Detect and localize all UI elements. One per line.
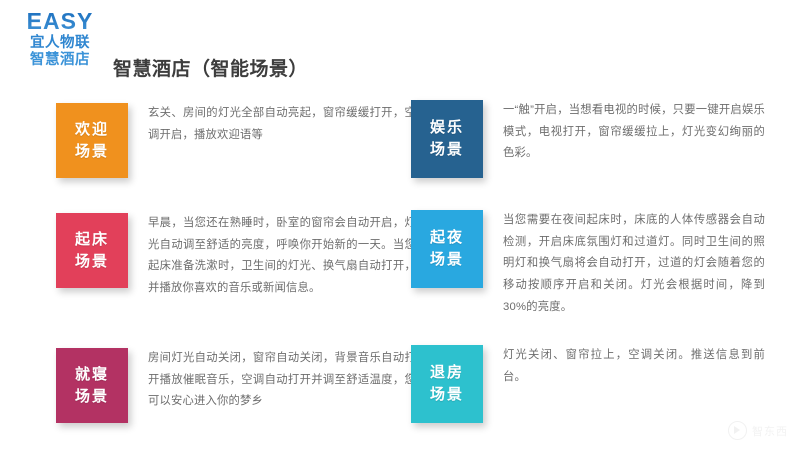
logo-subtitle-line2: 智慧酒店 bbox=[16, 53, 104, 68]
scene-badge-welcome[interactable]: 欢迎 场景 bbox=[56, 103, 128, 178]
scene-badge-line1: 退房 bbox=[430, 362, 464, 384]
scene-badge-line1: 欢迎 bbox=[75, 119, 109, 141]
logo-subtitle-line1: 宜人物联 bbox=[16, 36, 104, 51]
scene-badge-line1: 起夜 bbox=[430, 227, 464, 249]
watermark-label: 智东西 bbox=[752, 423, 788, 439]
scene-column-right: 娱乐 场景 一“触”开启，当想看电视的时候，只要一键开启娱乐模式，电视打开，窗帘… bbox=[411, 92, 796, 450]
scene-badge-line2: 场景 bbox=[75, 251, 109, 273]
page-title: 智慧酒店（智能场景） bbox=[113, 54, 308, 81]
scene-badge-line2: 场景 bbox=[75, 141, 109, 163]
scene-badge-entertainment[interactable]: 娱乐 场景 bbox=[411, 100, 483, 178]
watermark: 智东西 bbox=[728, 421, 788, 440]
scene-description-welcome: 玄关、房间的灯光全部自动亮起，窗帘缓缓打开，空调开启，播放欢迎语等 bbox=[148, 103, 416, 146]
scene-card-entertainment[interactable]: 娱乐 场景 一“触”开启，当想看电视的时候，只要一键开启娱乐模式，电视打开，窗帘… bbox=[411, 100, 765, 178]
scene-badge-wakeup[interactable]: 起床 场景 bbox=[56, 213, 128, 288]
scene-card-wakeup[interactable]: 起床 场景 早晨，当您还在熟睡时，卧室的窗帘会自动开启，灯光自动调至舒适的亮度，… bbox=[56, 213, 416, 300]
scene-badge-line1: 就寝 bbox=[75, 364, 109, 386]
scene-badge-line1: 起床 bbox=[75, 229, 109, 251]
scene-column-left: 欢迎 场景 玄关、房间的灯光全部自动亮起，窗帘缓缓打开，空调开启，播放欢迎语等 … bbox=[56, 92, 441, 450]
scene-badge-line2: 场景 bbox=[75, 386, 109, 408]
scene-badge-night[interactable]: 起夜 场景 bbox=[411, 210, 483, 288]
scene-badge-line2: 场景 bbox=[430, 249, 464, 271]
scene-card-night[interactable]: 起夜 场景 当您需要在夜间起床时，床底的人体传感器会自动检测，开启床底氛围灯和过… bbox=[411, 210, 765, 318]
logo-brand-text: EASY bbox=[16, 10, 104, 33]
scene-card-welcome[interactable]: 欢迎 场景 玄关、房间的灯光全部自动亮起，窗帘缓缓打开，空调开启，播放欢迎语等 bbox=[56, 103, 416, 178]
scene-description-wakeup: 早晨，当您还在熟睡时，卧室的窗帘会自动开启，灯光自动调至舒适的亮度，呼唤你开始新… bbox=[148, 213, 416, 300]
scene-description-night: 当您需要在夜间起床时，床底的人体传感器会自动检测，开启床底氛围灯和过道灯。同时卫… bbox=[503, 210, 765, 318]
scene-card-sleep[interactable]: 就寝 场景 房间灯光自动关闭，窗帘自动关闭，背景音乐自动打开播放催眠音乐，空调自… bbox=[56, 348, 416, 423]
scene-description-sleep: 房间灯光自动关闭，窗帘自动关闭，背景音乐自动打开播放催眠音乐，空调自动打开并调至… bbox=[148, 348, 416, 413]
brand-logo: EASY 宜人物联 智慧酒店 bbox=[16, 10, 104, 67]
scene-grid: 欢迎 场景 玄关、房间的灯光全部自动亮起，窗帘缓缓打开，空调开启，播放欢迎语等 … bbox=[0, 92, 800, 450]
play-circle-icon bbox=[728, 421, 747, 440]
scene-badge-sleep[interactable]: 就寝 场景 bbox=[56, 348, 128, 423]
scene-description-checkout: 灯光关闭、窗帘拉上，空调关闭。推送信息到前台。 bbox=[503, 345, 765, 388]
scene-description-entertainment: 一“触”开启，当想看电视的时候，只要一键开启娱乐模式，电视打开，窗帘缓缓拉上，灯… bbox=[503, 100, 765, 165]
scene-badge-checkout[interactable]: 退房 场景 bbox=[411, 345, 483, 423]
scene-badge-line1: 娱乐 bbox=[430, 117, 464, 139]
scene-badge-line2: 场景 bbox=[430, 139, 464, 161]
scene-badge-line2: 场景 bbox=[430, 384, 464, 406]
page-header: EASY 宜人物联 智慧酒店 智慧酒店（智能场景） bbox=[0, 0, 800, 92]
scene-card-checkout[interactable]: 退房 场景 灯光关闭、窗帘拉上，空调关闭。推送信息到前台。 bbox=[411, 345, 765, 423]
